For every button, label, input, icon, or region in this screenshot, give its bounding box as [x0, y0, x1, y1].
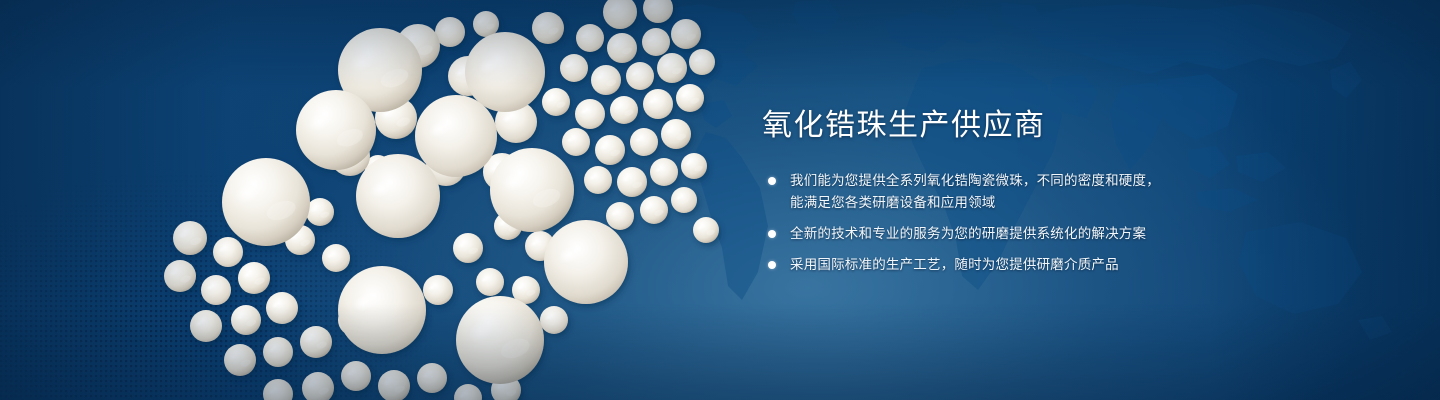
list-item: 我们能为您提供全系列氧化锆陶瓷微珠，不同的密度和硬度， 能满足您各类研磨设备和应…	[762, 170, 1322, 214]
bullet-dot-icon	[768, 177, 776, 185]
list-item: 全新的技术和专业的服务为您的研磨提供系统化的解决方案	[762, 223, 1322, 245]
list-item-line1: 全新的技术和专业的服务为您的研磨提供系统化的解决方案	[790, 226, 1146, 241]
list-item: 采用国际标准的生产工艺，随时为您提供研磨介质产品	[762, 254, 1322, 276]
feature-list: 我们能为您提供全系列氧化锆陶瓷微珠，不同的密度和硬度， 能满足您各类研磨设备和应…	[762, 170, 1322, 276]
list-item-line1: 我们能为您提供全系列氧化锆陶瓷微珠，不同的密度和硬度，	[790, 173, 1160, 188]
page-title: 氧化锆珠生产供应商	[762, 106, 1322, 146]
list-item-line2: 能满足您各类研磨设备和应用领域	[790, 192, 1322, 214]
list-item-line1: 采用国际标准的生产工艺，随时为您提供研磨介质产品	[790, 257, 1119, 272]
hero-copy: 氧化锆珠生产供应商 我们能为您提供全系列氧化锆陶瓷微珠，不同的密度和硬度， 能满…	[762, 106, 1322, 276]
bullet-dot-icon	[768, 230, 776, 238]
hero-banner: 氧化锆珠生产供应商 我们能为您提供全系列氧化锆陶瓷微珠，不同的密度和硬度， 能满…	[0, 0, 1440, 400]
bullet-dot-icon	[768, 261, 776, 269]
